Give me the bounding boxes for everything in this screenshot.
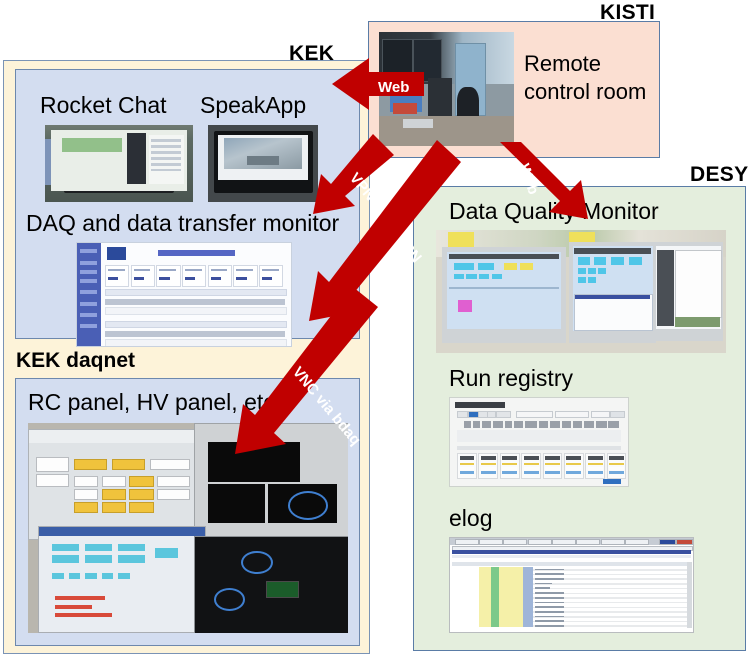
label-run-registry: Run registry bbox=[449, 365, 573, 392]
site-box-kisti: Remote control room bbox=[368, 21, 660, 158]
label-speakapp: SpeakApp bbox=[200, 92, 306, 119]
photo-remote-control-room bbox=[379, 32, 514, 146]
photo-control-panels bbox=[28, 423, 348, 633]
screenshot-run-list-for-shifters bbox=[449, 397, 629, 487]
label-data-quality-monitor: Data Quality Monitor bbox=[449, 198, 659, 225]
label-elog: elog bbox=[449, 505, 492, 532]
label-remote-control-room: Remote control room bbox=[524, 50, 646, 106]
site-label-kek: KEK bbox=[289, 42, 334, 66]
site-label-kek-daqnet: KEK daqnet bbox=[16, 349, 135, 373]
panel-kek-daqnet: RC panel, HV panel, etc bbox=[15, 378, 360, 646]
panel-kek-main: Rocket Chat SpeakApp DAQ an bbox=[15, 69, 360, 339]
site-label-desy: DESY bbox=[690, 163, 748, 187]
photo-dqm-screens bbox=[436, 230, 726, 353]
screenshot-belle2-core-computing bbox=[76, 242, 292, 347]
site-box-desy: Data Quality Monitor bbox=[413, 186, 746, 651]
label-rocket-chat: Rocket Chat bbox=[40, 92, 167, 119]
screenshot-elog-table bbox=[449, 537, 694, 633]
label-remote-control-room-line2: control room bbox=[524, 78, 646, 106]
photo-rocket-chat-monitor bbox=[45, 125, 193, 202]
site-label-kisti: KISTI bbox=[600, 1, 655, 25]
diagram-canvas: Rocket Chat SpeakApp DAQ an bbox=[0, 0, 749, 659]
photo-speakapp-monitor bbox=[208, 125, 318, 202]
label-remote-control-room-line1: Remote bbox=[524, 50, 646, 78]
label-daq-monitor: DAQ and data transfer monitor bbox=[26, 210, 339, 237]
site-box-kek: Rocket Chat SpeakApp DAQ an bbox=[3, 60, 370, 654]
label-rc-hv-panel: RC panel, HV panel, etc bbox=[28, 389, 275, 416]
